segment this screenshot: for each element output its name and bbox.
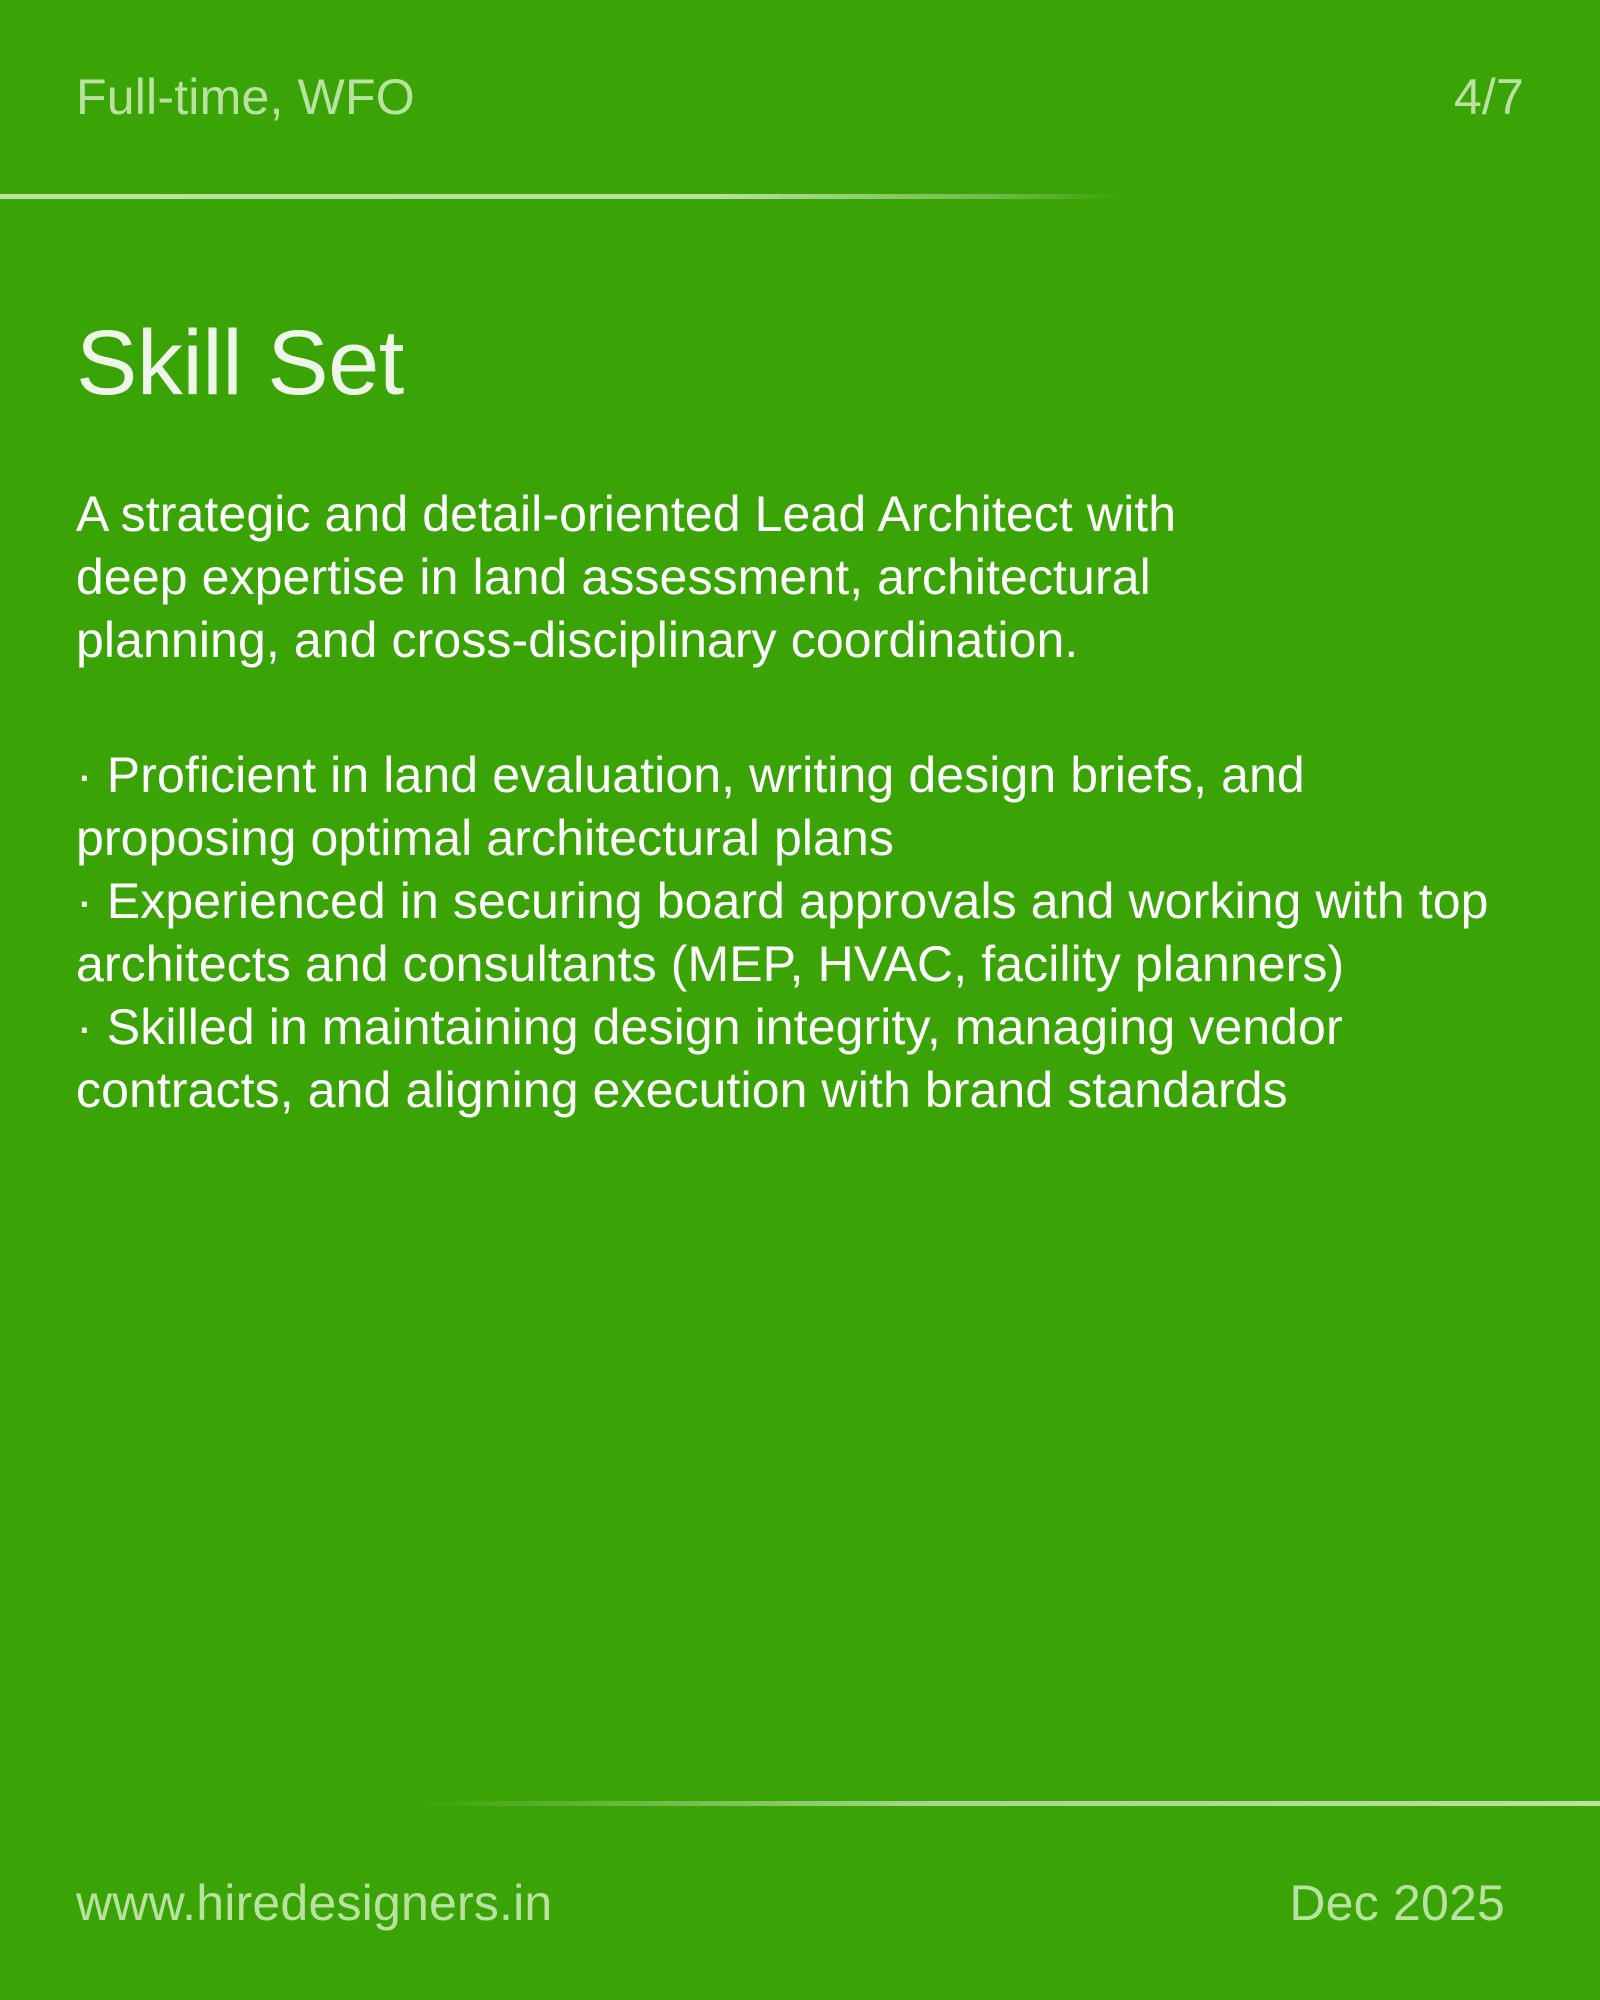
skill-bullet-list: · Proficient in land evaluation, writing… — [76, 744, 1524, 1122]
page-title: Skill Set — [76, 317, 1524, 409]
list-item-label: Proficient in land evaluation, writing d… — [76, 747, 1305, 866]
website-label[interactable]: www.hiredesigners.in — [76, 1876, 552, 1931]
page-indicator: 4/7 — [1454, 70, 1524, 125]
slide-header: Full-time, WFO 4/7 — [0, 0, 1600, 194]
list-item-label: Experienced in securing board approvals … — [76, 873, 1489, 992]
date-label: Dec 2025 — [1289, 1876, 1505, 1931]
employment-type-label: Full-time, WFO — [76, 70, 415, 125]
lead-paragraph: A strategic and detail-oriented Lead Arc… — [76, 483, 1256, 672]
list-item: · Proficient in land evaluation, writing… — [76, 744, 1524, 870]
list-item: · Experienced in securing board approval… — [76, 870, 1524, 996]
list-item: · Skilled in maintaining design integrit… — [76, 996, 1524, 1122]
list-item-label: Skilled in maintaining design integrity,… — [76, 999, 1343, 1118]
slide-content: Skill Set A strategic and detail-oriente… — [0, 199, 1600, 1801]
slide-footer: www.hiredesigners.in Dec 2025 — [0, 1806, 1600, 2000]
job-post-slide: Full-time, WFO 4/7 Skill Set A strategic… — [0, 0, 1600, 2000]
bullet-marker-icon: · — [76, 873, 93, 929]
bullet-marker-icon: · — [76, 999, 93, 1055]
bullet-marker-icon: · — [76, 747, 93, 803]
